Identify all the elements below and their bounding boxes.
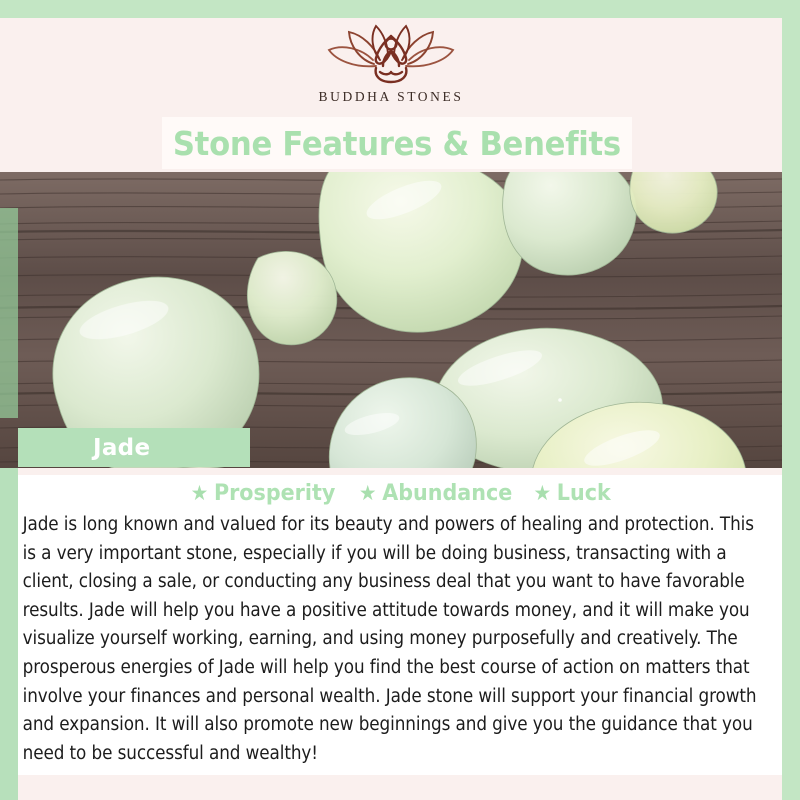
brand-logo: BUDDHA STONES — [0, 18, 782, 118]
star-icon: ★ — [359, 483, 377, 504]
benefit-label: Abundance — [383, 481, 513, 506]
benefit-label: Prosperity — [214, 481, 335, 506]
star-icon: ★ — [191, 483, 209, 504]
stone-name-label: Jade — [93, 435, 150, 461]
photo-left-green-veil — [0, 208, 18, 418]
benefit-item-prosperity: ★ Prosperity — [191, 481, 336, 506]
title-band: Stone Features & Benefits — [162, 117, 632, 169]
lotus-meditation-icon — [316, 22, 466, 88]
page-title: Stone Features & Benefits — [173, 124, 621, 163]
benefit-item-luck: ★ Luck — [534, 481, 611, 506]
benefits-row: ★ Prosperity ★ Abundance ★ Luck — [18, 475, 782, 509]
stone-photo — [0, 172, 782, 468]
benefit-item-abundance: ★ Abundance — [359, 481, 512, 506]
description-panel: ★ Prosperity ★ Abundance ★ Luck Jade is … — [18, 475, 782, 775]
brand-name: BUDDHA STONES — [319, 89, 464, 105]
description-text: Jade is long known and valued for its be… — [18, 509, 778, 768]
stone-photo-graphic — [0, 172, 782, 468]
stone-name-band: Jade — [18, 428, 250, 467]
infographic-page: BUDDHA STONES Stone Features & Benefits — [0, 0, 800, 800]
star-icon: ★ — [534, 483, 552, 504]
benefit-label: Luck — [557, 481, 611, 506]
